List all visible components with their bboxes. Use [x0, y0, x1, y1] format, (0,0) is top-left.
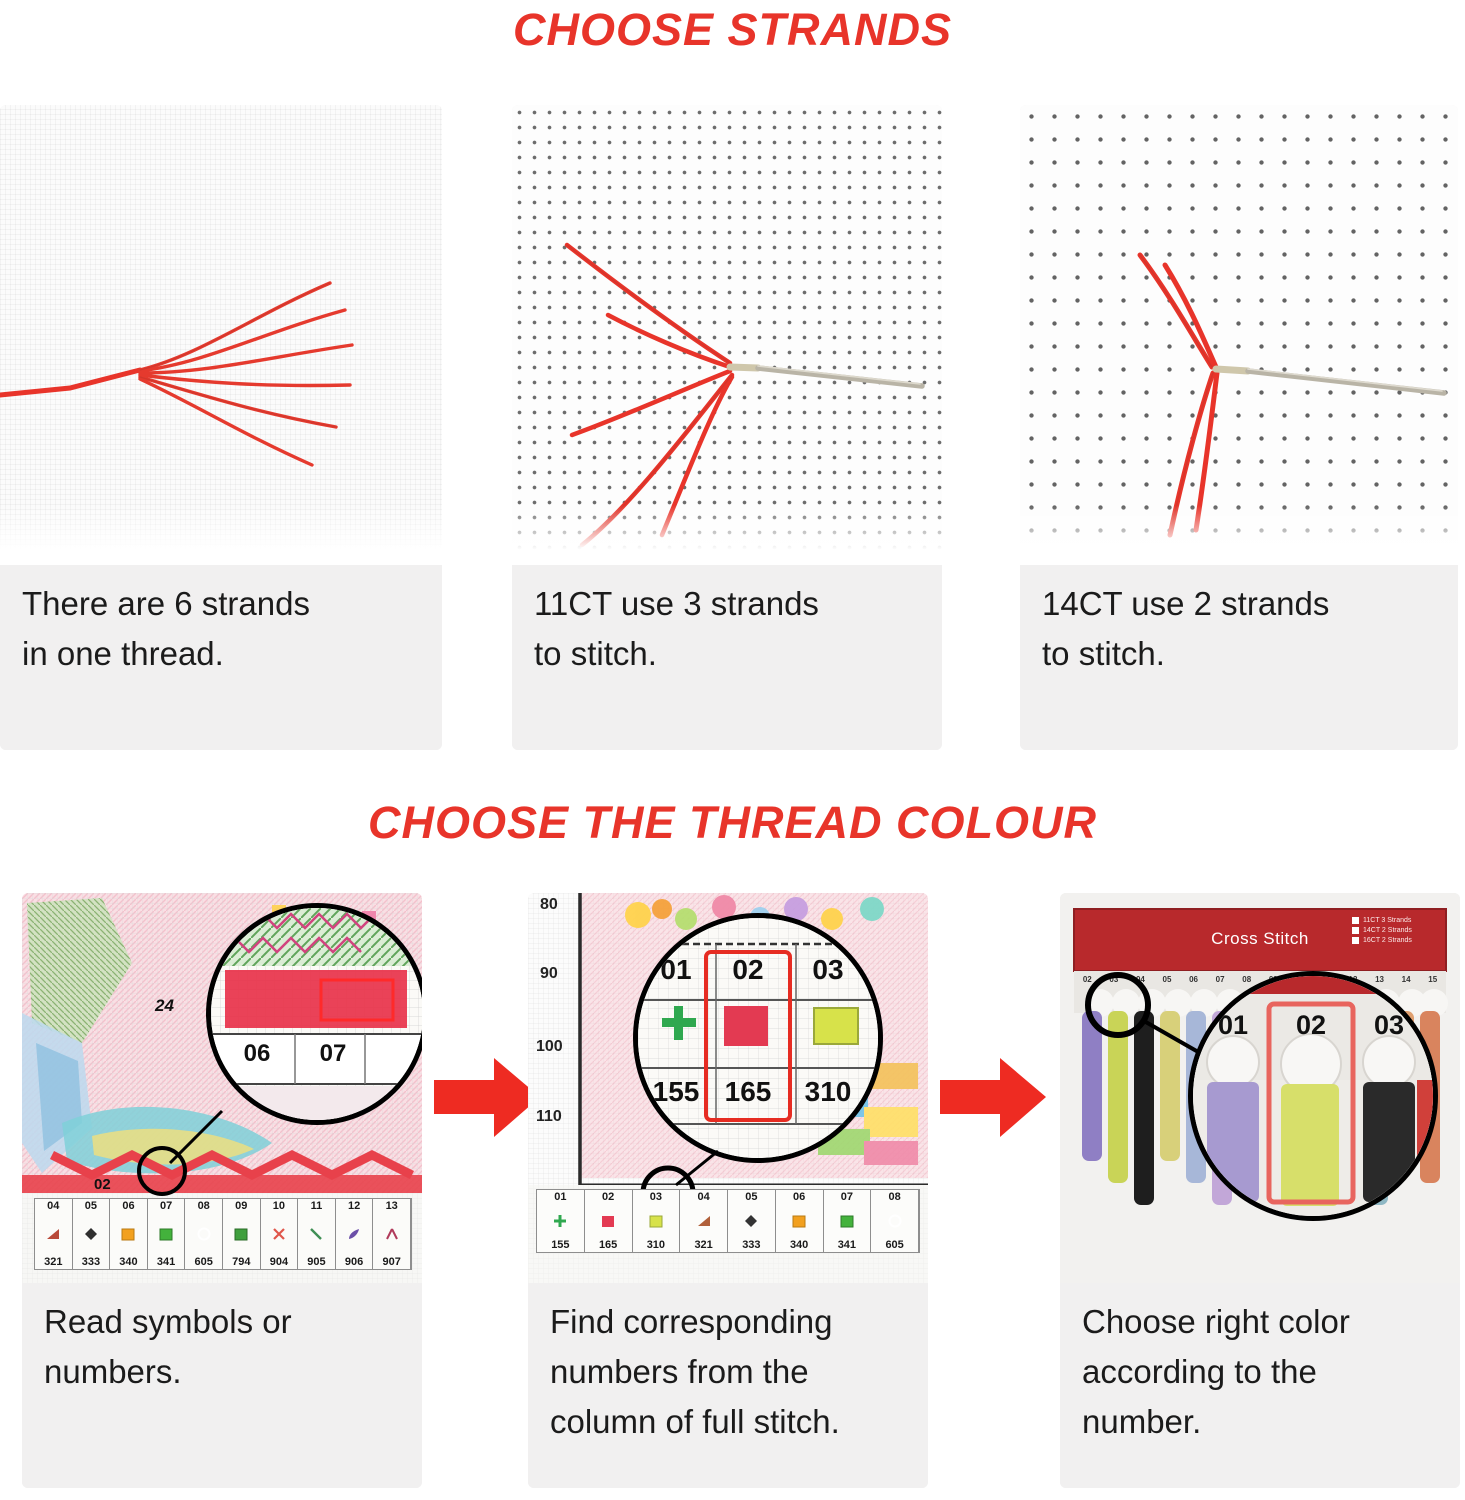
legend-cell: 10904	[261, 1199, 299, 1269]
legend-symbol-icon	[120, 1226, 136, 1242]
legend-cell: 08605	[185, 1199, 223, 1269]
card-read-symbols: 24 02	[22, 893, 422, 1488]
card-six-strands: There are 6 strands in one thread.	[0, 105, 442, 750]
legend-thread-code: 341	[824, 1239, 871, 1251]
legend-thread-code: 794	[223, 1256, 260, 1268]
legend-number: 01	[537, 1191, 584, 1203]
magnified-pattern-detail	[211, 908, 422, 1120]
legend-thread-code: 155	[537, 1239, 584, 1251]
legend-cell: 06340	[110, 1199, 148, 1269]
legend-number: 08	[185, 1200, 222, 1212]
legend-symbol-icon	[839, 1213, 855, 1229]
legend-symbol-icon	[83, 1226, 99, 1242]
legend-symbol-icon	[346, 1226, 362, 1242]
photo-bottom-fade	[0, 505, 442, 565]
legend-thread-code: 321	[35, 1256, 72, 1268]
legend-number: 07	[824, 1191, 871, 1203]
legend-number: 07	[148, 1200, 185, 1212]
arrow-right-icon	[938, 1050, 1048, 1145]
card-find-numbers: 80 90 100 110	[528, 893, 928, 1488]
arrow-right-icon	[432, 1050, 542, 1145]
legend-cell: 12906	[336, 1199, 374, 1269]
legend-cell: 06340	[776, 1190, 824, 1252]
legend-symbol-icon	[158, 1226, 174, 1242]
legend-cell: 07341	[148, 1199, 186, 1269]
legend-thread-code: 340	[110, 1256, 147, 1268]
legend-cell: 01155	[537, 1190, 585, 1252]
needle	[1216, 369, 1444, 393]
legend-symbol-icon	[887, 1213, 903, 1229]
legend-symbol-icon	[45, 1226, 61, 1242]
legend-symbol-icon	[196, 1226, 212, 1242]
caption-choose-color: Choose right color according to the numb…	[1060, 1283, 1460, 1488]
legend-symbol-icon	[552, 1213, 568, 1229]
legend-thread-code: 333	[728, 1239, 775, 1251]
photo-11ct-three-strands	[512, 105, 942, 565]
legend-number: 13	[373, 1200, 410, 1212]
legend-number: 10	[261, 1200, 298, 1212]
needle-and-three-strands-illustration	[512, 105, 942, 565]
legend-cell: 05333	[73, 1199, 111, 1269]
legend-number: 02	[585, 1191, 632, 1203]
legend-cell: 04321	[35, 1199, 73, 1269]
photo-bottom-fade	[1020, 505, 1458, 565]
legend-strip-numbers: 0115502165033100432105333063400734108605	[536, 1189, 920, 1253]
photo-thread-organizer: Cross Stitch 11CT 3 Strands 14CT 2 Stran…	[1060, 893, 1460, 1283]
legend-symbol-icon	[384, 1226, 400, 1242]
legend-number: 08	[871, 1191, 918, 1203]
legend-cell: 02165	[585, 1190, 633, 1252]
legend-thread-code: 904	[261, 1256, 298, 1268]
pattern-marker-02: 02	[94, 1176, 111, 1193]
legend-number: 06	[776, 1191, 823, 1203]
legend-thread-code: 341	[148, 1256, 185, 1268]
magnifier-circle-pattern: 06 07	[206, 903, 422, 1125]
legend-cell: 09794	[223, 1199, 261, 1269]
legend-symbol-icon	[648, 1213, 664, 1229]
legend-cell: 05333	[728, 1190, 776, 1252]
legend-symbol-icon	[271, 1226, 287, 1242]
thread-six-strands-illustration	[0, 105, 442, 565]
legend-thread-code: 906	[336, 1256, 373, 1268]
legend-number: 09	[223, 1200, 260, 1212]
legend-thread-code: 321	[680, 1239, 727, 1251]
legend-number: 05	[728, 1191, 775, 1203]
legend-symbol-icon	[791, 1213, 807, 1229]
legend-thread-code: 310	[633, 1239, 680, 1251]
photo-six-strands	[0, 105, 442, 565]
page-title-choose-thread-colour: CHOOSE THE THREAD COLOUR	[0, 795, 1465, 851]
legend-cell: 07341	[824, 1190, 872, 1252]
legend-symbol-icon	[233, 1226, 249, 1242]
legend-symbol-icon	[696, 1213, 712, 1229]
card-choose-color: Cross Stitch 11CT 3 Strands 14CT 2 Stran…	[1060, 893, 1460, 1488]
legend-cell: 13907	[373, 1199, 411, 1269]
photo-pattern-chart: 24 02	[22, 893, 422, 1283]
caption-11ct-three-strands: 11CT use 3 strands to stitch.	[512, 565, 942, 750]
legend-thread-code: 605	[185, 1256, 222, 1268]
caption-read-symbols: Read symbols or numbers.	[22, 1283, 422, 1488]
needle	[730, 366, 922, 386]
legend-number: 04	[35, 1200, 72, 1212]
legend-thread-code: 907	[373, 1256, 410, 1268]
legend-strip-symbols: 0432105333063400734108605097941090411905…	[34, 1198, 412, 1270]
photo-14ct-two-strands	[1020, 105, 1458, 565]
card-11ct-three-strands: 11CT use 3 strands to stitch.	[512, 105, 942, 750]
legend-number: 04	[680, 1191, 727, 1203]
legend-thread-code: 605	[871, 1239, 918, 1251]
legend-symbol-icon	[308, 1226, 324, 1242]
legend-thread-code: 905	[298, 1256, 335, 1268]
legend-thread-code: 333	[73, 1256, 110, 1268]
legend-thread-code: 165	[585, 1239, 632, 1251]
legend-number: 03	[633, 1191, 680, 1203]
arrow-right-2	[938, 1050, 1048, 1145]
legend-symbol-icon	[743, 1213, 759, 1229]
legend-number: 12	[336, 1200, 373, 1212]
magnifier-pointer-line-3	[1060, 893, 1460, 1283]
needle-and-two-strands-illustration	[1020, 105, 1458, 565]
legend-number: 05	[73, 1200, 110, 1212]
legend-cell: 04321	[680, 1190, 728, 1252]
arrow-right-1	[432, 1050, 542, 1145]
pattern-marker-24: 24	[155, 996, 174, 1016]
card-14ct-two-strands: 14CT use 2 strands to stitch.	[1020, 105, 1458, 750]
magnified-number-06: 06	[227, 1040, 287, 1068]
photo-pattern-chart-numbers: 80 90 100 110	[528, 893, 928, 1283]
legend-thread-code: 340	[776, 1239, 823, 1251]
magnified-number-07: 07	[303, 1040, 363, 1068]
caption-six-strands: There are 6 strands in one thread.	[0, 565, 442, 750]
photo-bottom-fade	[512, 505, 942, 565]
page-title-choose-strands: CHOOSE STRANDS	[0, 2, 1465, 58]
caption-14ct-two-strands: 14CT use 2 strands to stitch.	[1020, 565, 1458, 750]
caption-find-numbers: Find corresponding numbers from the colu…	[528, 1283, 928, 1488]
legend-symbol-icon	[600, 1213, 616, 1229]
legend-cell: 03310	[633, 1190, 681, 1252]
legend-cell: 08605	[871, 1190, 919, 1252]
legend-number: 06	[110, 1200, 147, 1212]
legend-cell: 11905	[298, 1199, 336, 1269]
legend-number: 11	[298, 1200, 335, 1212]
